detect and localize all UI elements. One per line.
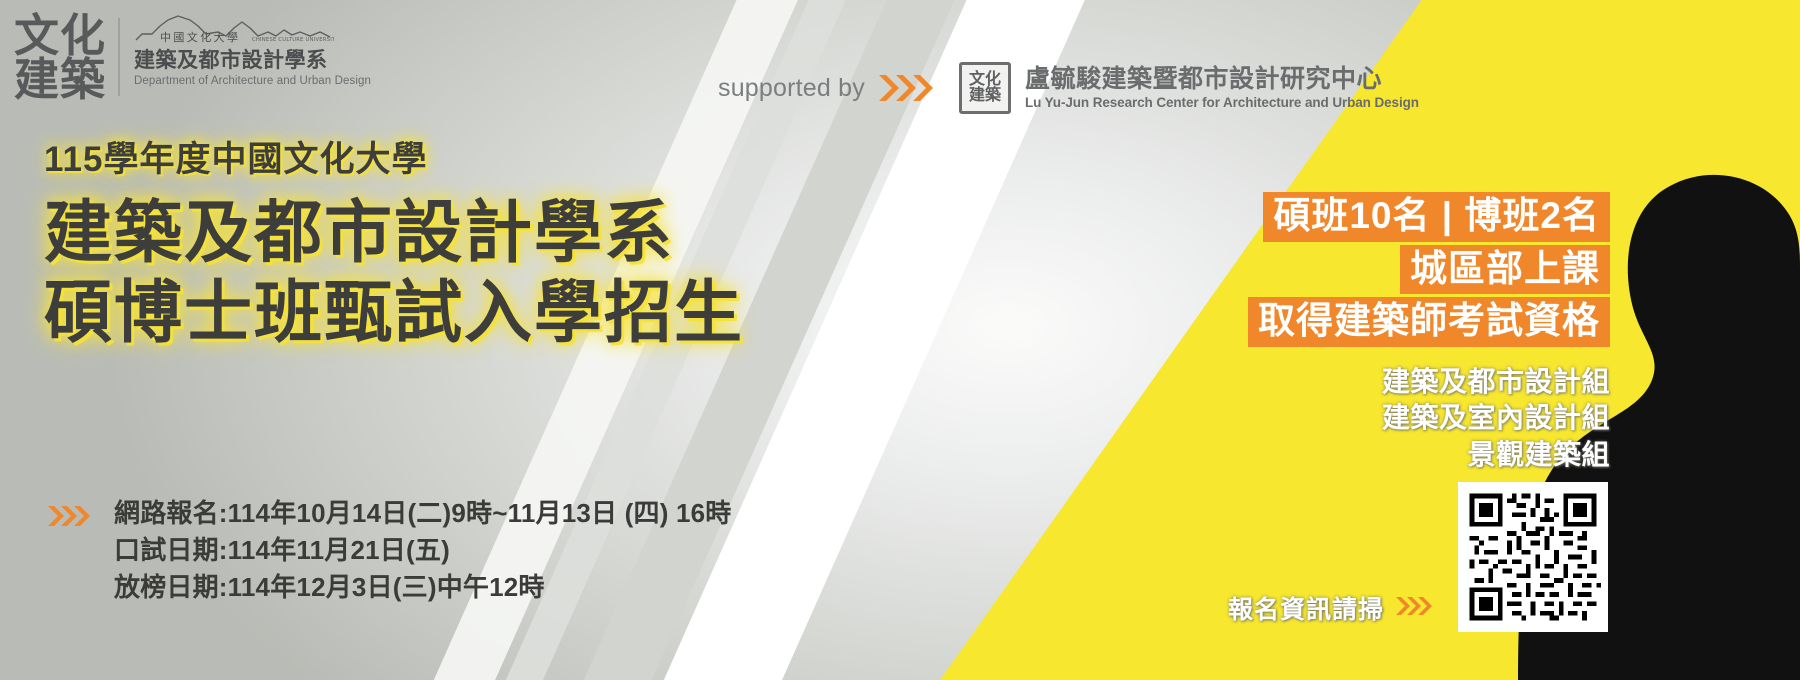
department-name-en: Department of Architecture and Urban Des…: [134, 76, 371, 88]
date-online-registration: 網路報名:114年10月14日(二)9時~11月13日 (四) 16時: [114, 495, 732, 532]
qr-code-label: 報名資訊請掃: [1228, 590, 1384, 626]
research-center-seal-icon: 文化 建築: [959, 62, 1011, 114]
research-center-identity: 盧毓駿建築暨都市設計研究中心 Lu Yu-Jun Research Center…: [1025, 66, 1419, 109]
brand-logo-lockup: 文化 建築 中國文化大學 CHINESE CULTURE UNIVERSITY …: [14, 12, 371, 102]
headline-eyebrow: 115學年度中國文化大學: [44, 140, 744, 179]
highlight-quota-row: 碩班10名 | 博班2名: [1248, 192, 1610, 245]
program-highlights-block: 碩班10名 | 博班2名 城區部上課 取得建築師考試資格 建築及都市設計組 建築…: [1248, 192, 1610, 473]
qr-code-image[interactable]: [1458, 482, 1608, 632]
program-groups-list: 建築及都市設計組 建築及室內設計組 景觀建築組: [1248, 364, 1610, 473]
university-name-en: CHINESE CULTURE UNIVERSITY: [252, 37, 334, 43]
university-skyline-icon: 中國文化大學 CHINESE CULTURE UNIVERSITY: [134, 14, 334, 44]
highlight-campus: 城區部上課: [1400, 245, 1610, 295]
highlight-campus-row: 城區部上課: [1248, 245, 1610, 298]
program-group-item: 景觀建築組: [1248, 437, 1610, 473]
logo-wordmark-line2: 建築: [14, 58, 106, 102]
university-identity: 中國文化大學 CHINESE CULTURE UNIVERSITY 建築及都市設…: [134, 12, 371, 88]
qr-code-block: 報名資訊請掃: [1228, 482, 1608, 632]
logo-wordmark-line1: 文化: [14, 14, 106, 58]
university-name-cn: 中國文化大學: [160, 30, 240, 44]
date-announcement: 放榜日期:114年12月3日(三)中午12時: [114, 569, 732, 606]
program-group-item: 建築及室內設計組: [1248, 400, 1610, 436]
headline-block: 115學年度中國文化大學 建築及都市設計學系 碩博士班甄試入學招生: [44, 140, 744, 354]
highlight-qualification-row: 取得建築師考試資格: [1248, 297, 1610, 350]
headline-title: 建築及都市設計學系 碩博士班甄試入學招生: [44, 193, 744, 353]
chevron-arrows-icon: [1396, 595, 1442, 622]
admissions-banner: 文化 建築 中國文化大學 CHINESE CULTURE UNIVERSITY …: [0, 0, 1800, 680]
program-group-item: 建築及都市設計組: [1248, 364, 1610, 400]
date-interview: 口試日期:114年11月21日(五): [114, 532, 732, 569]
chevron-arrows-icon: [879, 73, 945, 103]
qr-code-caption: 報名資訊請掃: [1228, 590, 1442, 632]
logo-wordmark: 文化 建築: [14, 12, 106, 102]
seal-line1: 文化: [969, 72, 1001, 88]
headline-title-line2: 碩博士班甄試入學招生: [44, 273, 744, 353]
department-name-cn: 建築及都市設計學系: [134, 50, 371, 71]
research-center-name-en: Lu Yu-Jun Research Center for Architectu…: [1025, 96, 1419, 110]
headline-title-line1: 建築及都市設計學系: [44, 193, 744, 273]
logo-divider: [118, 18, 120, 96]
supported-by-label: supported by: [718, 74, 865, 103]
seal-line2: 建築: [969, 88, 1001, 104]
supported-by-block: supported by 文化 建築 盧毓駿建築暨都市設計研究中心 Lu Yu-…: [718, 62, 1419, 114]
key-dates-block: 網路報名:114年10月14日(二)9時~11月13日 (四) 16時 口試日期…: [48, 495, 732, 606]
chevron-arrows-icon: [48, 495, 100, 533]
highlight-qualification: 取得建築師考試資格: [1248, 297, 1610, 347]
research-center-name-cn: 盧毓駿建築暨都市設計研究中心: [1025, 66, 1419, 92]
highlight-quota: 碩班10名 | 博班2名: [1263, 192, 1610, 242]
key-dates-list: 網路報名:114年10月14日(二)9時~11月13日 (四) 16時 口試日期…: [114, 495, 732, 606]
